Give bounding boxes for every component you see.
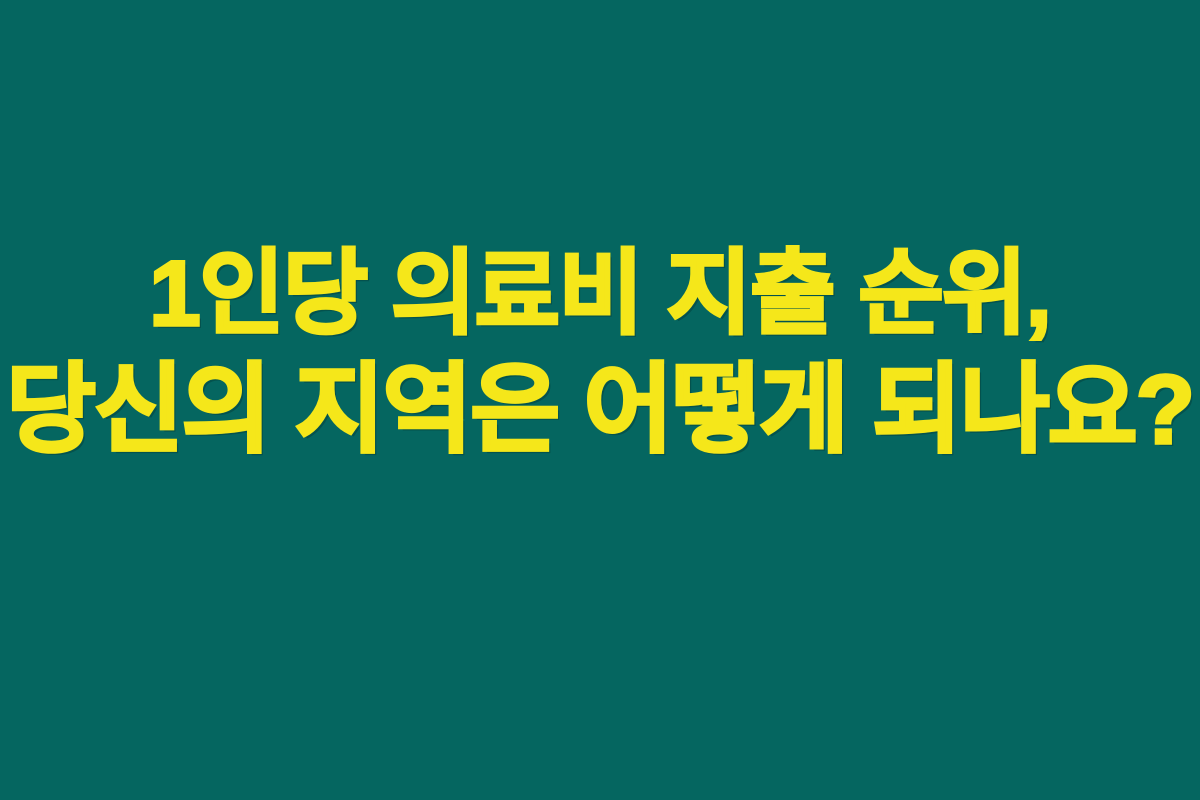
thumbnail-card: 1인당 의료비 지출 순위, 당신의 지역은 어떻게 되나요? — [0, 0, 1200, 800]
headline-block: 1인당 의료비 지출 순위, 당신의 지역은 어떻게 되나요? — [0, 0, 1200, 800]
headline-line-1: 1인당 의료비 지출 순위, — [0, 236, 1200, 352]
headline-line-2: 당신의 지역은 어떻게 되나요? — [0, 352, 1200, 468]
